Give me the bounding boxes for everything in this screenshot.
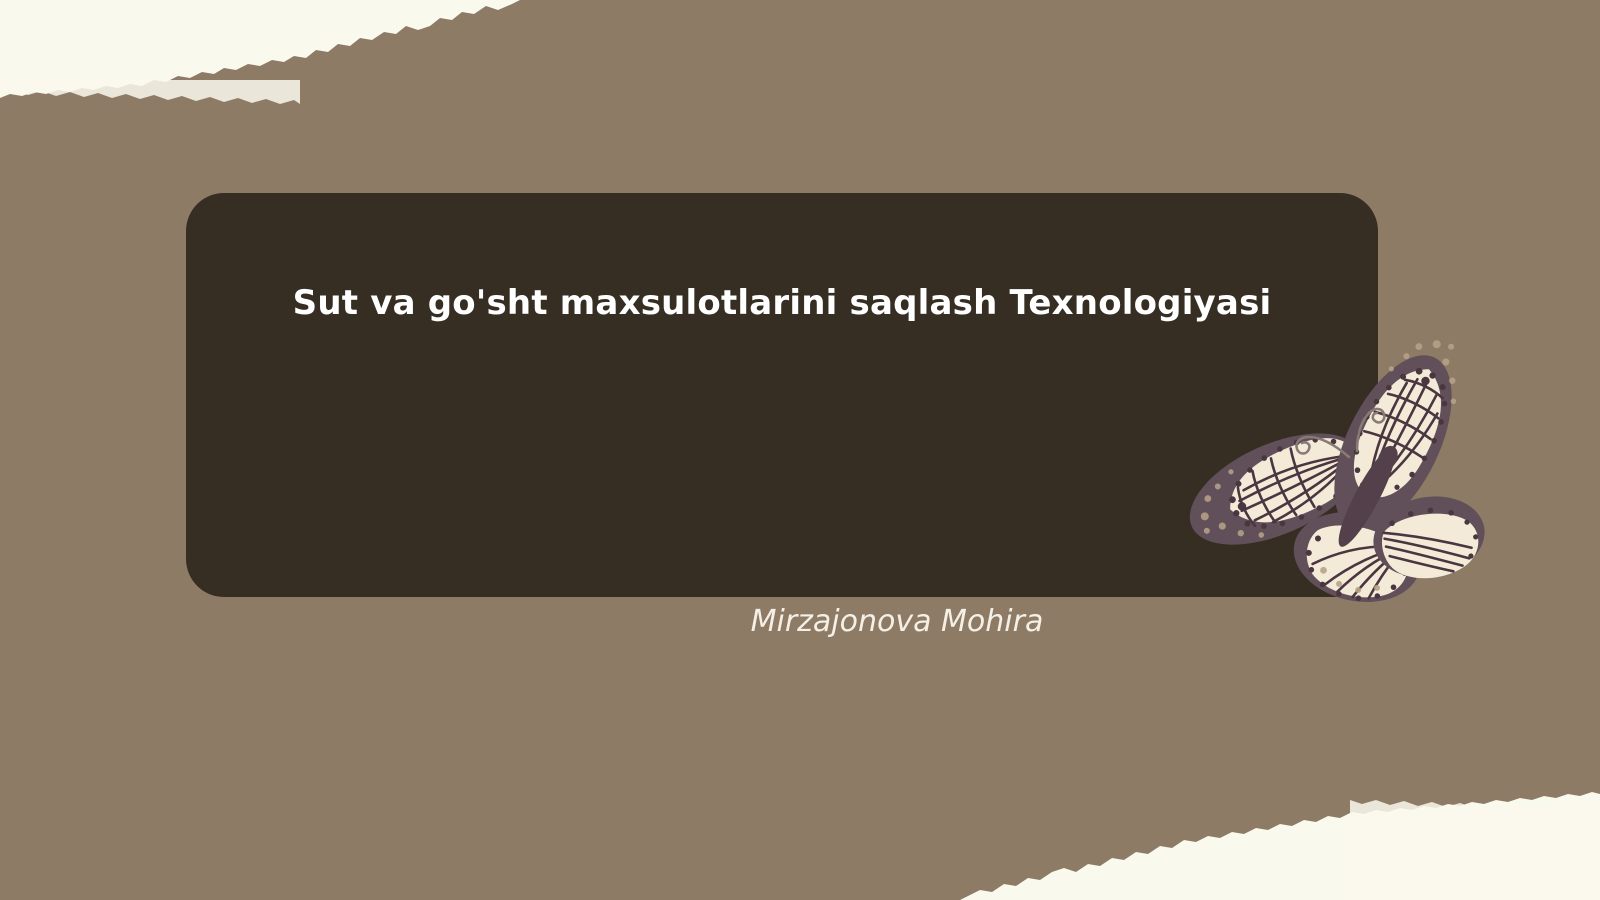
torn-paper-top-left (0, 0, 520, 130)
presentation-slide: Sut va go'sht maxsulotlarini saqlash Tex… (0, 0, 1600, 900)
author-name: Mirzajonova Mohira (647, 604, 1147, 639)
page-title: Sut va go'sht maxsulotlarini saqlash Tex… (186, 282, 1378, 325)
butterfly-illustration (1185, 325, 1485, 620)
torn-paper-bottom-right (960, 750, 1600, 900)
